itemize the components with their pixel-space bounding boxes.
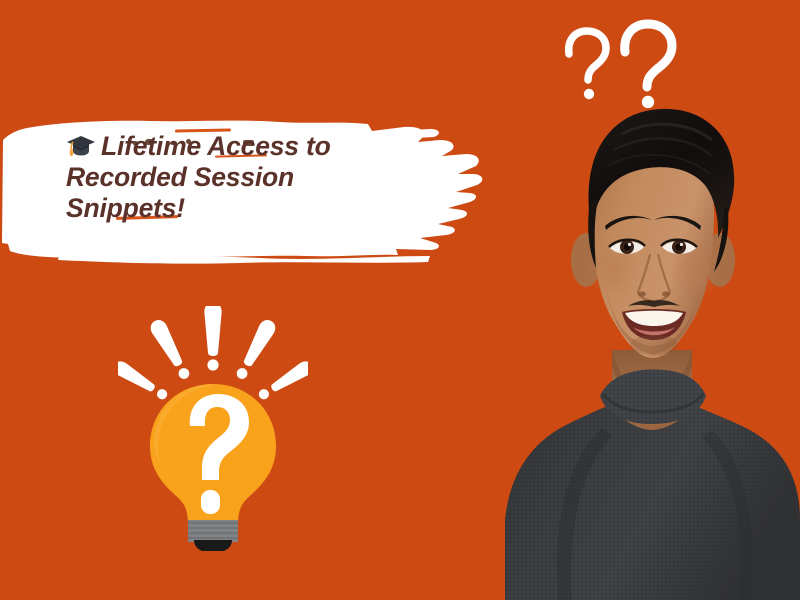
promo-canvas: Lifetime Access to Recorded Session Snip…: [0, 0, 800, 600]
banner-headline: Lifetime Access to Recorded Session Snip…: [66, 131, 396, 224]
lightbulb-base: [188, 520, 238, 551]
banner-headline-text: Lifetime Access to Recorded Session Snip…: [66, 131, 338, 223]
idea-lightbulb-icon: [118, 306, 308, 551]
floating-question-marks: [545, 18, 685, 108]
graduation-cap-icon: [66, 134, 96, 158]
chin-stubble: [630, 335, 678, 355]
question-mark-small: [569, 31, 606, 99]
question-mark-large: [625, 24, 672, 108]
